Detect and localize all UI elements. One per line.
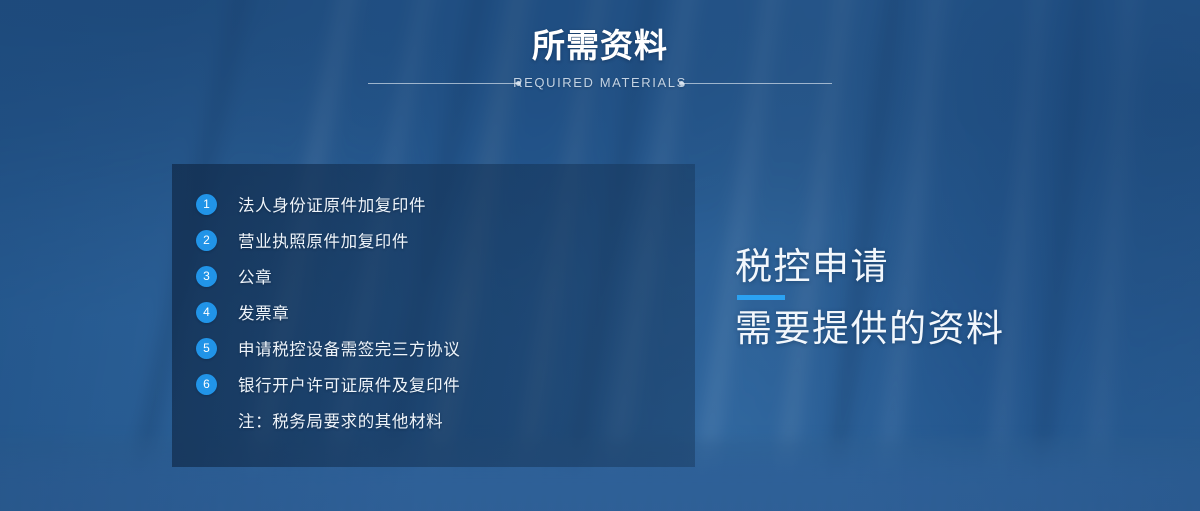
materials-list: 1 法人身份证原件加复印件 2 营业执照原件加复印件 3 公章 4 发票章 5 … xyxy=(196,186,681,438)
list-item: 2 营业执照原件加复印件 xyxy=(196,222,681,258)
right-heading-block: 税控申请 需要提供的资料 xyxy=(735,244,1135,352)
list-item-label: 银行开户许可证原件及复印件 xyxy=(238,372,460,396)
divider-right xyxy=(680,83,832,84)
number-badge-icon: 1 xyxy=(196,194,217,215)
materials-note-label: 注：税务局要求的其他材料 xyxy=(238,408,443,432)
list-item-label: 申请税控设备需签完三方协议 xyxy=(238,336,460,360)
materials-panel: 1 法人身份证原件加复印件 2 营业执照原件加复印件 3 公章 4 发票章 5 … xyxy=(172,164,695,467)
number-badge-icon: 5 xyxy=(196,338,217,359)
accent-bar xyxy=(737,295,785,300)
list-item-label: 法人身份证原件加复印件 xyxy=(238,192,426,216)
list-item-label: 营业执照原件加复印件 xyxy=(238,228,409,252)
right-heading-line1: 税控申请 xyxy=(735,244,1135,290)
page-title: 所需资料 xyxy=(0,26,1200,66)
number-badge-icon: 6 xyxy=(196,374,217,395)
materials-note: 注：税务局要求的其他材料 xyxy=(196,402,681,438)
header: 所需资料 REQUIRED MATERIALS xyxy=(0,26,1200,94)
list-item: 1 法人身份证原件加复印件 xyxy=(196,186,681,222)
subtitle-row: REQUIRED MATERIALS xyxy=(0,72,1200,94)
number-badge-icon: 3 xyxy=(196,266,217,287)
list-item-label: 发票章 xyxy=(238,300,289,324)
right-heading-line2: 需要提供的资料 xyxy=(735,306,1135,352)
number-badge-icon: 2 xyxy=(196,230,217,251)
number-badge-icon: 4 xyxy=(196,302,217,323)
banner-required-materials: 所需资料 REQUIRED MATERIALS 1 法人身份证原件加复印件 2 … xyxy=(0,0,1200,511)
list-item: 6 银行开户许可证原件及复印件 xyxy=(196,366,681,402)
list-item-label: 公章 xyxy=(238,264,272,288)
list-item: 3 公章 xyxy=(196,258,681,294)
list-item: 5 申请税控设备需签完三方协议 xyxy=(196,330,681,366)
divider-dot-left xyxy=(516,81,521,86)
divider-left xyxy=(368,83,520,84)
page-subtitle: REQUIRED MATERIALS xyxy=(513,75,687,90)
list-item: 4 发票章 xyxy=(196,294,681,330)
divider-dot-right xyxy=(679,81,684,86)
